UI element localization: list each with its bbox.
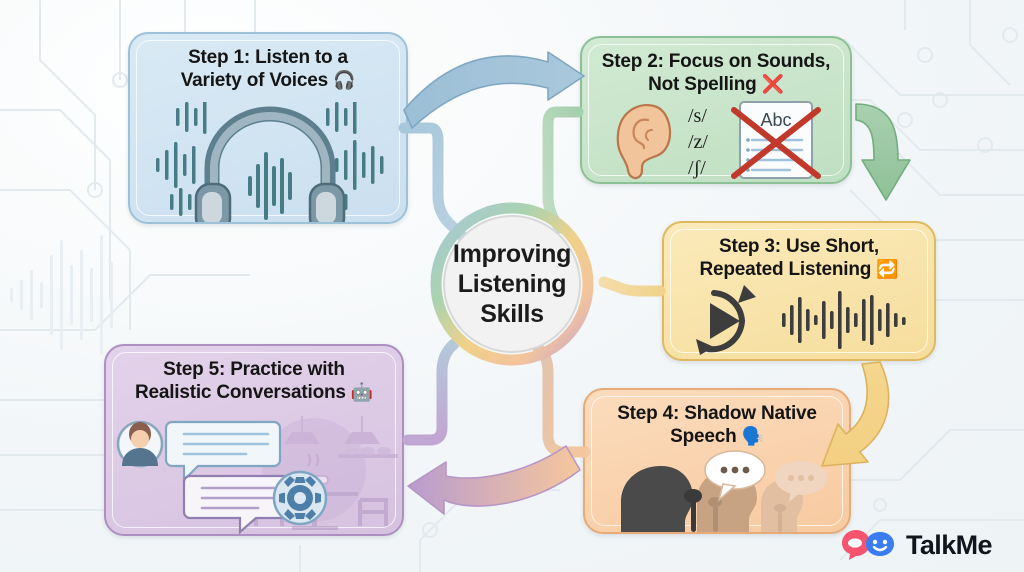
central-hub[interactable]: Improving Listening Skills	[418, 202, 606, 366]
arrow-step2-to-step3	[856, 104, 910, 200]
talkme-bubbles-icon	[840, 528, 898, 562]
arrow-step3-to-step4	[822, 362, 889, 466]
hub-line-3: Skills	[480, 299, 544, 329]
hub-label: Improving Listening Skills	[418, 202, 606, 366]
talkme-wordmark: TalkMe	[906, 530, 992, 561]
hub-line-2: Listening	[458, 269, 566, 299]
hub-line-1: Improving	[453, 239, 571, 269]
infographic-canvas: Step 1: Listen to a Variety of Voices 🎧	[0, 0, 1024, 572]
arrow-step4-to-step5	[408, 446, 580, 514]
talkme-logo[interactable]: TalkMe	[840, 526, 1010, 564]
